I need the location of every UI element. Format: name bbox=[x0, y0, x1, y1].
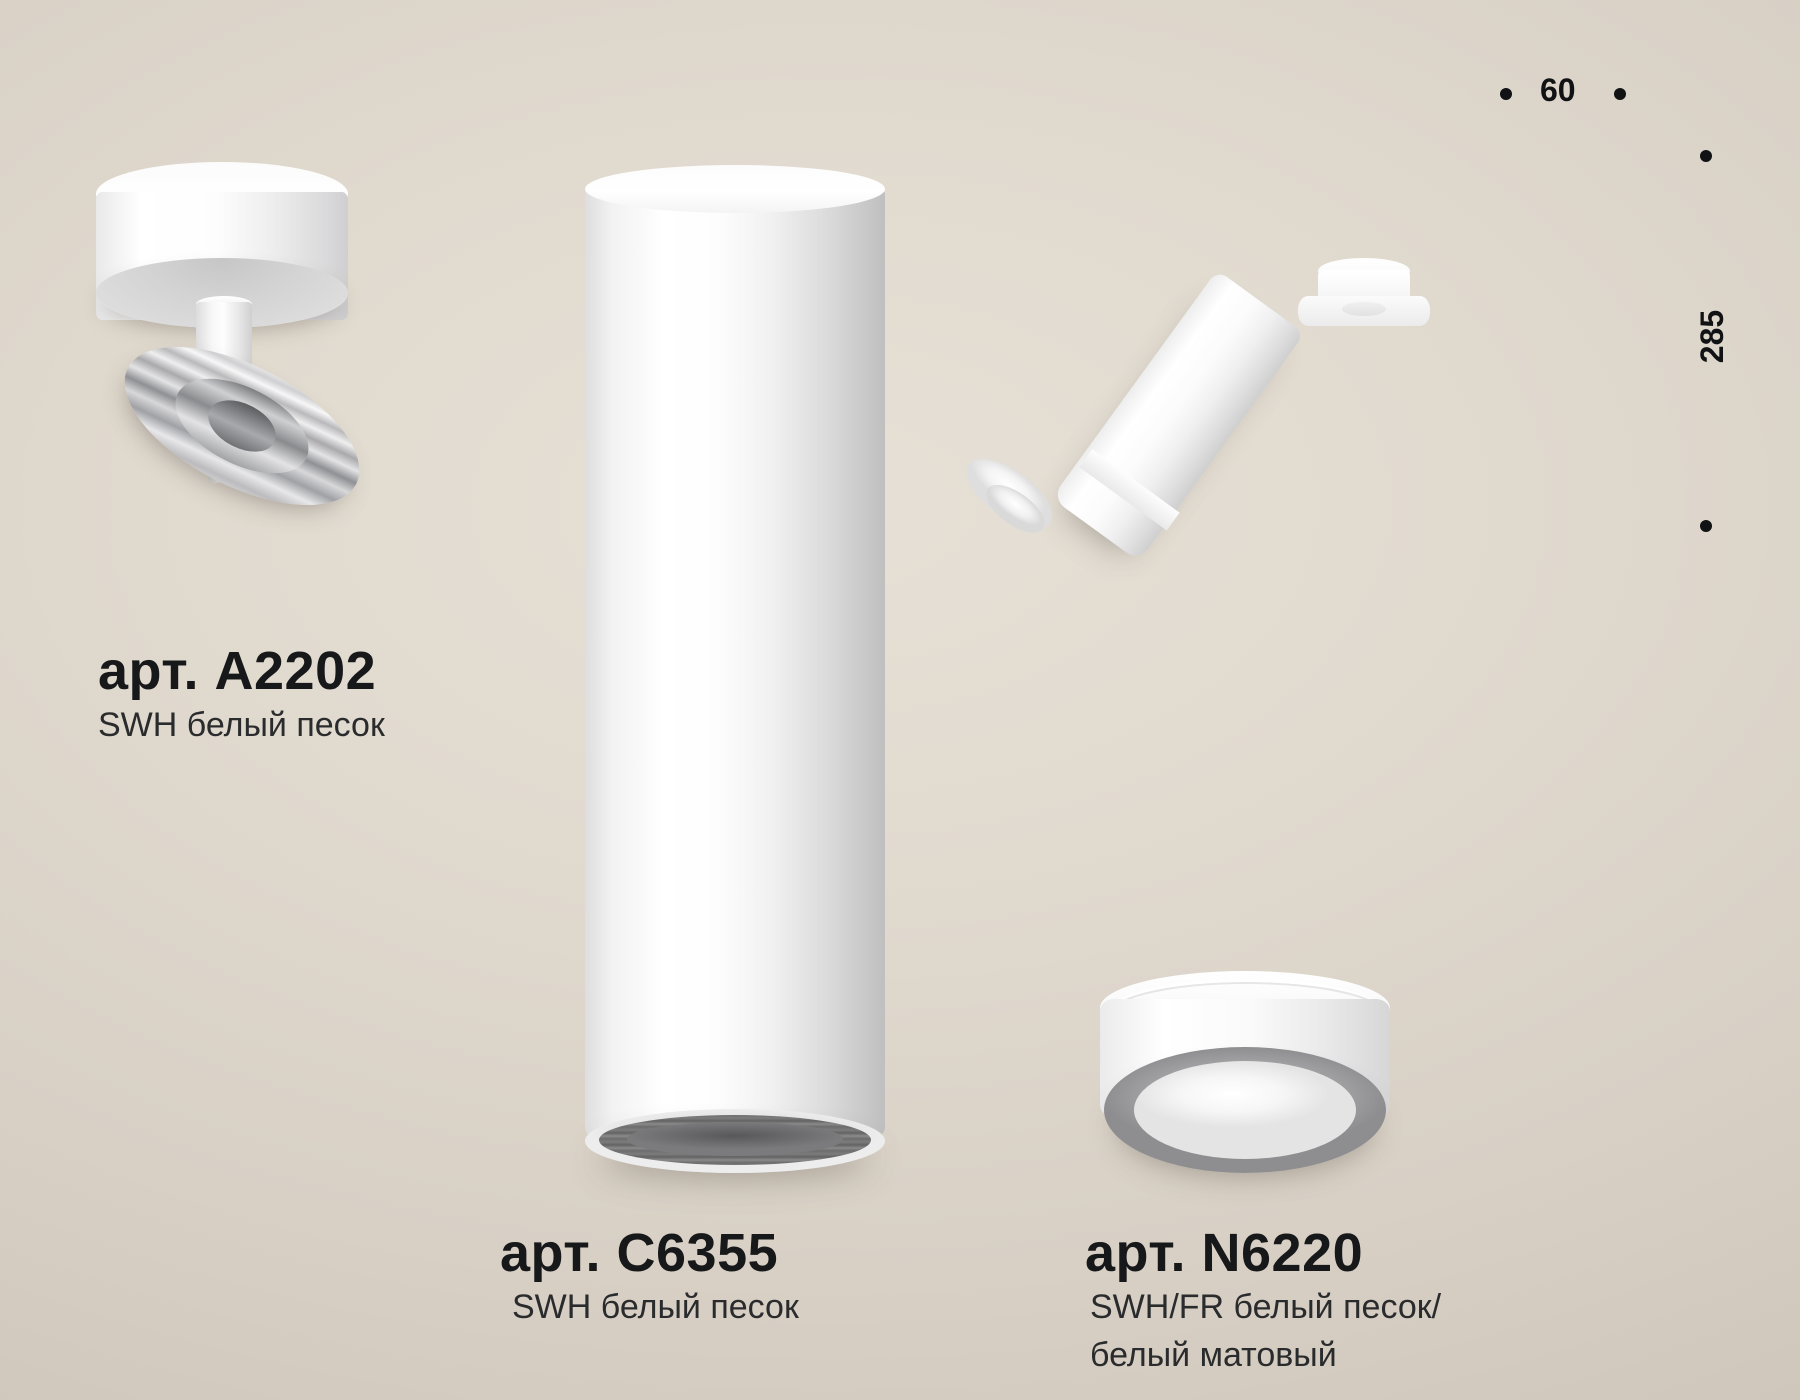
spotlight-barrel bbox=[1052, 270, 1305, 562]
a2202-article-label: арт. A2202 bbox=[98, 640, 376, 702]
a2202-finish-label: SWH белый песок bbox=[98, 706, 385, 745]
width-dim-dot-right bbox=[1614, 88, 1626, 100]
c6355-article-label: арт. C6355 bbox=[500, 1222, 778, 1284]
c6355-top-cap bbox=[585, 165, 885, 213]
product-c6355-image bbox=[585, 165, 905, 1165]
width-dimension-value: 60 bbox=[1540, 72, 1576, 109]
n6220-frosted-diffuser bbox=[1134, 1061, 1356, 1159]
product-n6220-image bbox=[1090, 965, 1410, 1195]
n6220-finish-label-line2: белый матовый bbox=[1090, 1336, 1337, 1375]
height-dim-dot-bottom bbox=[1700, 520, 1712, 532]
c6355-cylinder-body bbox=[585, 187, 885, 1137]
product-sheet-canvas: арт. A2202 SWH белый песок арт. C6355 SW… bbox=[0, 0, 1800, 1400]
assembled-spotlight-image bbox=[1170, 130, 1550, 490]
c6355-finish-label: SWH белый песок bbox=[512, 1288, 799, 1327]
n6220-article-label: арт. N6220 bbox=[1085, 1222, 1363, 1284]
height-dimension-value: 285 bbox=[1694, 310, 1731, 363]
c6355-bottom-core bbox=[627, 1122, 843, 1156]
width-dim-dot-left bbox=[1500, 88, 1512, 100]
product-a2202-image bbox=[88, 140, 458, 540]
height-dim-dot-top bbox=[1700, 150, 1712, 162]
spotlight-bracket-notch bbox=[1342, 302, 1386, 316]
n6220-finish-label-line1: SWH/FR белый песок/ bbox=[1090, 1288, 1441, 1327]
